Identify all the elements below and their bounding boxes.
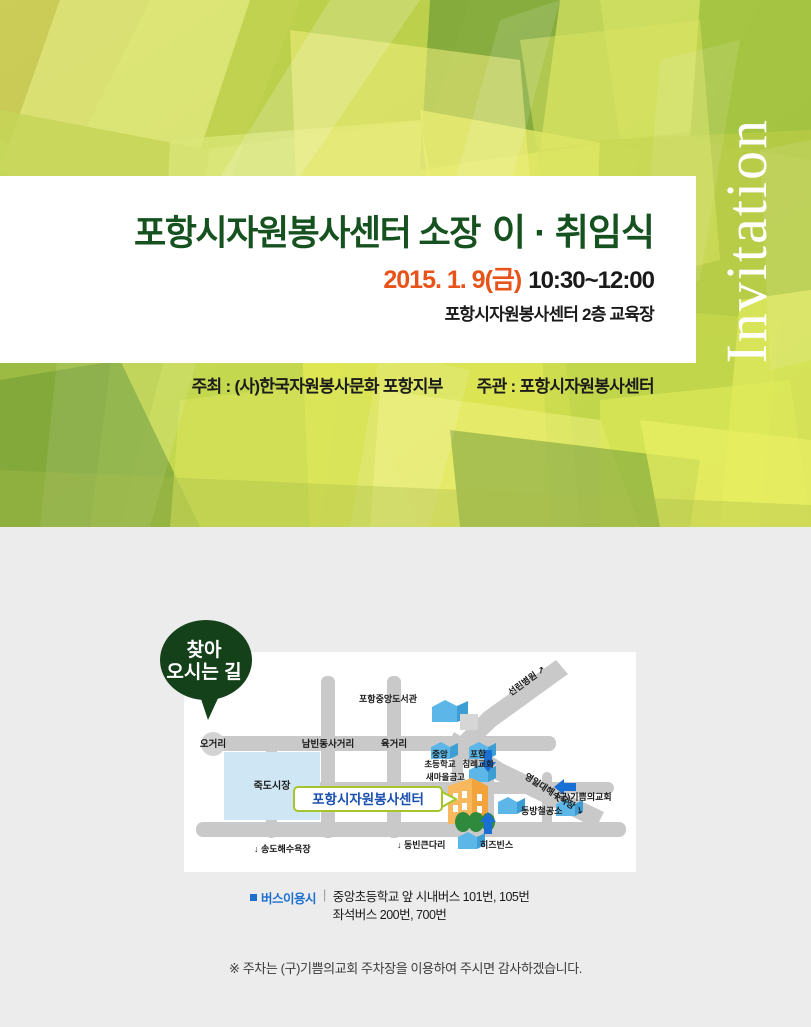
event-time: 10:30~12:00 [528,267,654,294]
event-datetime: 2015. 1. 9(금)10:30~12:00 [383,260,654,296]
map-highlight-callout: 포항시자원봉사센터 [294,787,456,811]
bus-info-label: 버스이용시 [250,888,316,907]
map-label-library: 포항중앙도서관 [359,693,418,704]
event-title-main: 포항시자원봉사센터 소장 [134,214,480,253]
map-highlight-label: 포항시자원봉사센터 [312,791,424,807]
bus-label-text: 버스이용시 [261,888,316,907]
host-supervisor: 주관 : 포항시자원봉사센터 [477,377,654,396]
speech-bubble-icon: 찾아 오시는 길 [158,616,254,720]
title-panel: 포항시자원봉사센터 소장이 · 취임식 2015. 1. 9(금)10:30~1… [0,176,696,363]
map-label-dongbin: ↓ 동빈큰다리 [397,839,445,850]
event-title: 포항시자원봉사센터 소장이 · 취임식 [134,202,654,256]
bus-line-2: 좌석버스 200번, 700번 [333,908,447,922]
badge-line2: 오시는 길 [166,661,241,683]
event-title-accent: 이 · 취임식 [492,212,654,253]
map-label-yukgeori: 육거리 [381,738,407,750]
map-label-jukdo-market: 죽도시장 [254,779,292,792]
invitation-vertical-text: Invitation [718,118,776,364]
host-organizer: 주최 : (사)한국자원봉사문화 포항지부 [192,377,443,396]
parking-footnote: ※ 주차는 (구)기쁨의교회 주차장을 이용하여 주시면 감사하겠습니다. [0,958,811,977]
map-label-nambindong: 남빈동사거리 [302,738,354,750]
badge-line1: 찾아 [187,639,222,661]
map-label-songdo: ↓ 송도해수욕장 [254,843,311,854]
find-us-badge: 찾아 오시는 길 [158,616,254,720]
map-label-hisbeans: 히즈빈스 [480,839,514,850]
event-place: 포항시자원봉사센터 2층 교육장 [445,300,654,325]
map-label-church-1: 포항 [470,749,486,759]
map-label-church-2: 침례교회 [462,759,493,769]
bus-info-lines: 중앙초등학교 앞 시내버스 101번, 105번 좌석버스 200번, 700번 [333,888,530,924]
map-label-saemaul: 새마을금고 [426,772,465,782]
bus-bullet-icon [250,894,257,901]
map-label-ogeori: 오거리 [200,738,226,750]
host-line: 주최 : (사)한국자원봉사문화 포항지부주관 : 포항시자원봉사센터 [0,372,696,397]
event-date: 2015. 1. 9(금) [383,266,521,294]
map-label-ironworks: 동방철공소 [521,805,563,816]
bus-info: 버스이용시 | 중앙초등학교 앞 시내버스 101번, 105번 좌석버스 20… [250,888,529,924]
bus-line-1: 중앙초등학교 앞 시내버스 101번, 105번 [333,890,530,904]
bus-divider: | [323,888,326,902]
map-label-elementary-2: 초등학교 [424,759,455,769]
map-label-elementary-1: 중앙 [432,749,448,759]
